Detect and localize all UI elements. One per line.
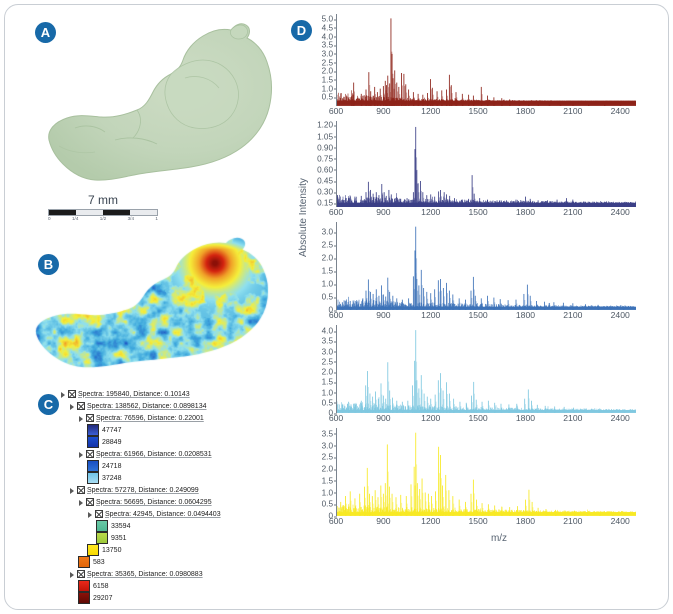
x-axis-ticks: 60090012001500180021002400 [300,310,662,325]
x-tick-label: 1800 [516,207,535,217]
expander-triangle-icon[interactable] [78,499,85,506]
y-axis-spine [336,428,337,516]
y-axis-spine [336,121,337,207]
y-tick-label: 5.0 [322,15,333,24]
cluster-color-swatch[interactable] [96,520,108,532]
panel-label-c: C [38,394,59,415]
x-tick-label: 1500 [469,310,488,320]
tree-leaf-count: 29207 [93,595,112,602]
y-tick-label: 0.90 [317,143,333,152]
x-axis-ticks: 60090012001500180021002400 [300,106,662,121]
y-tick-label: 0.75 [317,154,333,163]
expander-triangle-icon[interactable] [60,391,67,398]
x-tick-label: 2400 [611,207,630,217]
tree-leaf[interactable]: 29207 [60,592,285,604]
x-tick-label: 1800 [516,413,535,423]
scale-bar-ticks: 0 1/4 1/2 3/4 1 [48,216,158,221]
x-axis-ticks: 60090012001500180021002400 [300,413,662,428]
checkbox-x-icon[interactable] [95,510,103,518]
spectrum-canvas [336,325,636,413]
tree-leaf[interactable]: 9351 [60,532,285,544]
expander-triangle-icon[interactable] [69,403,76,410]
y-axis-ticks: 00.51.01.52.02.53.03.54.0 [300,325,336,413]
y-tick-label: 2.5 [322,58,333,67]
tree-leaf[interactable]: 37248 [60,472,285,484]
cluster-color-swatch[interactable] [78,556,90,568]
x-tick-label: 600 [329,516,343,526]
tissue-optical-image [45,18,280,193]
checkbox-x-icon[interactable] [77,402,85,410]
y-tick-label: 3.0 [322,228,333,237]
tree-leaf[interactable]: 28849 [60,436,285,448]
x-tick-label: 900 [376,516,390,526]
x-tick-label: 2100 [563,106,582,116]
scale-tick-0: 0 [48,216,51,221]
checkbox-x-icon[interactable] [77,486,85,494]
tree-node[interactable]: Spectra: 138562, Distance: 0.0898134 [60,400,285,412]
scale-tick-1: 1/4 [72,216,78,221]
cluster-tree[interactable]: Spectra: 195840, Distance: 0.10143Spectr… [60,388,285,604]
tree-leaf[interactable]: 47747 [60,424,285,436]
x-axis-ticks: 60090012001500180021002400 [300,516,662,531]
y-axis-ticks: 00.51.01.52.02.53.0 [300,222,336,310]
cluster-color-swatch[interactable] [87,460,99,472]
x-tick-label: 1500 [469,207,488,217]
tree-leaf-count: 6158 [93,583,109,590]
tree-node-label: Spectra: 42945, Distance: 0.0494403 [105,511,221,518]
spectrum-plot-4: 00.51.01.52.02.53.03.54.0600900120015001… [300,325,662,428]
y-tick-label: 4.0 [322,327,333,336]
x-tick-label: 2400 [611,106,630,116]
tree-leaf[interactable]: 13750 [60,544,285,556]
tree-leaf-count: 28849 [102,439,121,446]
x-tick-label: 600 [329,106,343,116]
tree-node-label: Spectra: 76596, Distance: 0.22001 [96,415,204,422]
y-tick-label: 0.5 [322,293,333,302]
y-axis-spine [336,222,337,310]
x-tick-label: 1500 [469,516,488,526]
y-tick-label: 0.45 [317,177,333,186]
x-tick-label: 2100 [563,310,582,320]
y-tick-label: 1.0 [322,488,333,497]
tree-leaf-count: 37248 [102,475,121,482]
tree-leaf-count: 13750 [102,547,121,554]
y-tick-label: 4.5 [322,23,333,32]
y-tick-label: 2.0 [322,67,333,76]
tree-leaf[interactable]: 6158 [60,580,285,592]
cluster-color-swatch[interactable] [87,544,99,556]
checkbox-x-icon[interactable] [86,414,94,422]
cluster-color-swatch[interactable] [87,436,99,448]
y-tick-label: 3.5 [322,337,333,346]
checkbox-x-icon[interactable] [68,390,76,398]
y-tick-label: 2.5 [322,241,333,250]
scale-bar-segments [48,209,158,216]
y-tick-label: 2.0 [322,368,333,377]
scale-bar-title: 7 mm [48,193,158,207]
expander-triangle-icon[interactable] [78,451,85,458]
x-axis-label: m/z [300,533,662,544]
x-tick-label: 1800 [516,106,535,116]
scale-tick-4: 1 [155,216,158,221]
y-tick-label: 1.05 [317,132,333,141]
tree-leaf[interactable]: 583 [60,556,285,568]
tree-node-label: Spectra: 56695, Distance: 0.0604295 [96,499,212,506]
tree-node[interactable]: Spectra: 195840, Distance: 0.10143 [60,388,285,400]
x-tick-label: 2400 [611,310,630,320]
y-axis-spine [336,325,337,413]
y-tick-label: 1.0 [322,280,333,289]
tree-leaf-count: 9351 [111,535,127,542]
x-tick-label: 1200 [421,516,440,526]
x-tick-label: 600 [329,310,343,320]
y-tick-label: 2.5 [322,357,333,366]
spectrum-plot-1: 0.51.01.52.02.53.03.54.04.55.06009001200… [300,14,662,121]
spectrum-canvas [336,121,636,207]
x-tick-label: 1200 [421,413,440,423]
tree-leaf[interactable]: 33594 [60,520,285,532]
x-tick-label: 900 [376,106,390,116]
y-tick-label: 3.5 [322,429,333,438]
x-tick-label: 900 [376,310,390,320]
x-tick-label: 1500 [469,413,488,423]
y-tick-label: 3.5 [322,41,333,50]
y-tick-label: 1.5 [322,476,333,485]
y-tick-label: 1.5 [322,75,333,84]
cluster-color-swatch[interactable] [78,592,90,604]
y-tick-label: 2.0 [322,254,333,263]
tree-leaf-count: 583 [93,559,105,566]
y-tick-label: 3.0 [322,347,333,356]
x-tick-label: 1200 [421,310,440,320]
y-axis-ticks: 00.51.01.52.02.53.03.5 [300,428,336,516]
x-tick-label: 1500 [469,106,488,116]
y-tick-label: 1.5 [322,267,333,276]
tree-node-label: Spectra: 35365, Distance: 0.0980883 [87,571,203,578]
y-tick-label: 3.0 [322,49,333,58]
x-tick-label: 2100 [563,413,582,423]
expander-triangle-icon[interactable] [69,571,76,578]
x-tick-label: 1800 [516,310,535,320]
spectrum-canvas [336,14,636,106]
expander-triangle-icon[interactable] [78,415,85,422]
tree-node[interactable]: Spectra: 57278, Distance: 0.249099 [60,484,285,496]
checkbox-x-icon[interactable] [77,570,85,578]
cluster-color-swatch[interactable] [87,424,99,436]
cluster-color-swatch[interactable] [78,580,90,592]
tree-node[interactable]: Spectra: 56695, Distance: 0.0604295 [60,496,285,508]
y-tick-label: 0.5 [322,500,333,509]
expander-triangle-icon[interactable] [87,511,94,518]
segmentation-map-image [32,233,277,378]
y-axis-ticks: 0.150.300.450.600.750.901.051.20 [300,121,336,207]
spectrum-plot-5: 00.51.01.52.02.53.03.5600900120015001800… [300,428,662,544]
tree-node-label: Spectra: 138562, Distance: 0.0898134 [87,403,206,410]
spectrum-canvas [336,428,636,516]
checkbox-x-icon[interactable] [86,450,94,458]
x-tick-label: 2100 [563,207,582,217]
x-tick-label: 1200 [421,106,440,116]
x-tick-label: 600 [329,413,343,423]
x-tick-label: 900 [376,413,390,423]
scale-bar: 7 mm 0 1/4 1/2 3/4 1 [48,193,158,221]
y-tick-label: 1.5 [322,378,333,387]
tree-leaf-count: 47747 [102,427,121,434]
x-tick-label: 1200 [421,207,440,217]
y-tick-label: 1.20 [317,121,333,130]
x-tick-label: 2400 [611,413,630,423]
y-tick-label: 0.5 [322,398,333,407]
spectrum-plot-2: 0.150.300.450.600.750.901.051.2060090012… [300,121,662,222]
expander-triangle-icon[interactable] [69,487,76,494]
y-tick-label: 0.30 [317,188,333,197]
spectrum-canvas [336,222,636,310]
x-tick-label: 2100 [563,516,582,526]
y-tick-label: 1.0 [322,388,333,397]
tree-node-label: Spectra: 195840, Distance: 0.10143 [78,391,190,398]
cluster-color-swatch[interactable] [87,472,99,484]
y-tick-label: 2.0 [322,465,333,474]
y-tick-label: 2.5 [322,453,333,462]
tree-leaf-count: 33594 [111,523,130,530]
figure-root: A 7 mm 0 1/4 1/2 3/4 1 B [0,0,673,614]
tree-leaf[interactable]: 24718 [60,460,285,472]
y-tick-label: 3.0 [322,441,333,450]
spectrum-plot-3: 00.51.01.52.02.53.0600900120015001800210… [300,222,662,325]
tree-node[interactable]: Spectra: 35365, Distance: 0.0980883 [60,568,285,580]
checkbox-x-icon[interactable] [86,498,94,506]
y-tick-label: 0.60 [317,165,333,174]
tree-node[interactable]: Spectra: 61966, Distance: 0.0208531 [60,448,285,460]
y-tick-label: 0.5 [322,93,333,102]
scale-tick-3: 3/4 [128,216,134,221]
x-tick-label: 2400 [611,516,630,526]
tree-leaf-count: 24718 [102,463,121,470]
tree-node[interactable]: Spectra: 76596, Distance: 0.22001 [60,412,285,424]
tree-node-label: Spectra: 61966, Distance: 0.0208531 [96,451,212,458]
scale-tick-2: 1/2 [100,216,106,221]
x-tick-label: 1800 [516,516,535,526]
y-axis-ticks: 0.51.01.52.02.53.03.54.04.55.0 [300,14,336,106]
y-tick-label: 4.0 [322,32,333,41]
spectra-panel: Absolute Intensity 0.51.01.52.02.53.03.5… [300,14,662,600]
cluster-color-swatch[interactable] [96,532,108,544]
tree-node-label: Spectra: 57278, Distance: 0.249099 [87,487,199,494]
x-tick-label: 900 [376,207,390,217]
tree-node[interactable]: Spectra: 42945, Distance: 0.0494403 [60,508,285,520]
y-tick-label: 1.0 [322,84,333,93]
x-axis-ticks: 60090012001500180021002400 [300,207,662,222]
x-tick-label: 600 [329,207,343,217]
y-axis-spine [336,14,337,106]
